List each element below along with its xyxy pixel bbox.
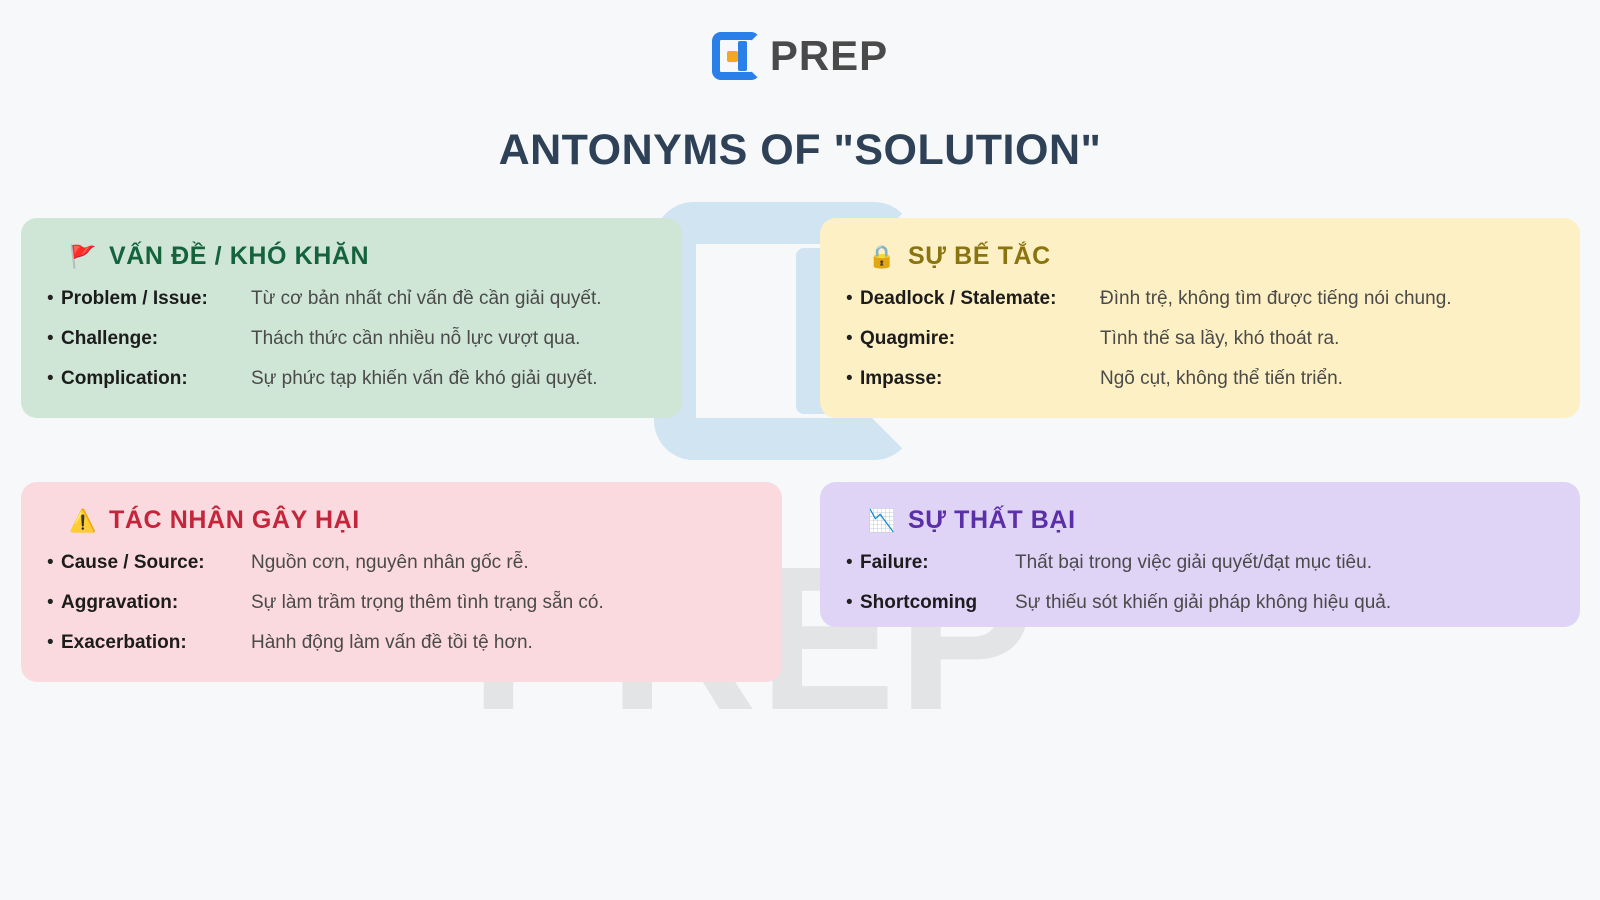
card-deadlock: 🔒 SỰ BẾ TẮC • Deadlock / Stalemate: Đình…: [820, 218, 1580, 418]
bullet-icon: •: [47, 623, 61, 663]
list-item: • Exacerbation: Hành động làm vấn đề tồi…: [47, 623, 756, 663]
bullet-icon: •: [846, 279, 860, 319]
term-description: Sự làm trầm trọng thêm tình trạng sẵn có…: [251, 583, 604, 623]
card-heading-text: TÁC NHÂN GÂY HẠI: [109, 506, 360, 535]
term-label: Failure:: [860, 543, 1015, 583]
list-item: • Deadlock / Stalemate: Đình trệ, không …: [846, 279, 1554, 319]
term-label: Challenge:: [61, 319, 251, 359]
term-description: Hành động làm vấn đề tồi tệ hơn.: [251, 623, 533, 663]
list-item: • Quagmire: Tình thế sa lầy, khó thoát r…: [846, 319, 1554, 359]
warning-triangle-icon: ⚠️: [69, 510, 97, 532]
card-heading-deadlock: 🔒 SỰ BẾ TẮC: [868, 242, 1554, 271]
term-description: Nguồn cơn, nguyên nhân gốc rễ.: [251, 543, 529, 583]
card-heading-text: SỰ THẤT BẠI: [908, 506, 1076, 535]
bullet-icon: •: [47, 319, 61, 359]
bullet-icon: •: [47, 543, 61, 583]
brand-name: PREP: [770, 32, 888, 80]
term-list-harmful-agent: • Cause / Source: Nguồn cơn, nguyên nhân…: [47, 543, 756, 663]
brand-header: PREP: [0, 32, 1600, 80]
card-heading-text: VẤN ĐỀ / KHÓ KHĂN: [109, 242, 369, 271]
bullet-icon: •: [846, 543, 860, 583]
term-description: Tình thế sa lầy, khó thoát ra.: [1100, 319, 1339, 359]
term-label: Deadlock / Stalemate:: [860, 279, 1100, 319]
list-item: • Shortcoming Sự thiếu sót khiến giải ph…: [846, 583, 1554, 623]
term-description: Ngõ cụt, không thể tiến triển.: [1100, 359, 1343, 399]
term-label: Impasse:: [860, 359, 1100, 399]
term-description: Sự thiếu sót khiến giải pháp không hiệu …: [1015, 583, 1391, 623]
term-list-problem: • Problem / Issue: Từ cơ bản nhất chỉ vấ…: [47, 279, 656, 399]
card-heading-harmful-agent: ⚠️ TÁC NHÂN GÂY HẠI: [69, 506, 756, 535]
term-description: Đình trệ, không tìm được tiếng nói chung…: [1100, 279, 1452, 319]
card-failure: 📉 SỰ THẤT BẠI • Failure: Thất bại trong …: [820, 482, 1580, 627]
term-label: Exacerbation:: [61, 623, 251, 663]
term-description: Từ cơ bản nhất chỉ vấn đề cần giải quyết…: [251, 279, 602, 319]
term-label: Cause / Source:: [61, 543, 251, 583]
term-label: Problem / Issue:: [61, 279, 251, 319]
bullet-icon: •: [47, 279, 61, 319]
list-item: • Aggravation: Sự làm trầm trọng thêm tì…: [47, 583, 756, 623]
bullet-icon: •: [846, 319, 860, 359]
term-label: Quagmire:: [860, 319, 1100, 359]
term-label: Aggravation:: [61, 583, 251, 623]
prep-logo-icon: [712, 32, 760, 80]
list-item: • Cause / Source: Nguồn cơn, nguyên nhân…: [47, 543, 756, 583]
bullet-icon: •: [846, 583, 860, 623]
card-heading-problem: 🚩 VẤN ĐỀ / KHÓ KHĂN: [69, 242, 656, 271]
infographic-canvas: PREP PREP ANTONYMS OF "SOLUTION" 🚩 VẤN Đ…: [0, 0, 1600, 900]
list-item: • Impasse: Ngõ cụt, không thể tiến triển…: [846, 359, 1554, 399]
lock-icon: 🔒: [868, 246, 896, 268]
list-item: • Challenge: Thách thức cần nhiều nỗ lực…: [47, 319, 656, 359]
card-heading-text: SỰ BẾ TẮC: [908, 242, 1051, 271]
card-problem: 🚩 VẤN ĐỀ / KHÓ KHĂN • Problem / Issue: T…: [21, 218, 682, 418]
chart-decreasing-icon: 📉: [868, 510, 896, 532]
page-title: ANTONYMS OF "SOLUTION": [0, 126, 1600, 175]
list-item: • Failure: Thất bại trong việc giải quyế…: [846, 543, 1554, 583]
term-description: Thách thức cần nhiều nỗ lực vượt qua.: [251, 319, 580, 359]
term-description: Sự phức tạp khiến vấn đề khó giải quyết.: [251, 359, 598, 399]
term-list-failure: • Failure: Thất bại trong việc giải quyế…: [846, 543, 1554, 623]
bullet-icon: •: [47, 359, 61, 399]
bullet-icon: •: [846, 359, 860, 399]
card-harmful-agent: ⚠️ TÁC NHÂN GÂY HẠI • Cause / Source: Ng…: [21, 482, 782, 682]
list-item: • Complication: Sự phức tạp khiến vấn đề…: [47, 359, 656, 399]
card-heading-failure: 📉 SỰ THẤT BẠI: [868, 506, 1554, 535]
term-list-deadlock: • Deadlock / Stalemate: Đình trệ, không …: [846, 279, 1554, 399]
term-description: Thất bại trong việc giải quyết/đạt mục t…: [1015, 543, 1372, 583]
term-label: Complication:: [61, 359, 251, 399]
term-label: Shortcoming: [860, 583, 1015, 623]
list-item: • Problem / Issue: Từ cơ bản nhất chỉ vấ…: [47, 279, 656, 319]
bullet-icon: •: [47, 583, 61, 623]
triangular-flag-icon: 🚩: [69, 246, 97, 268]
